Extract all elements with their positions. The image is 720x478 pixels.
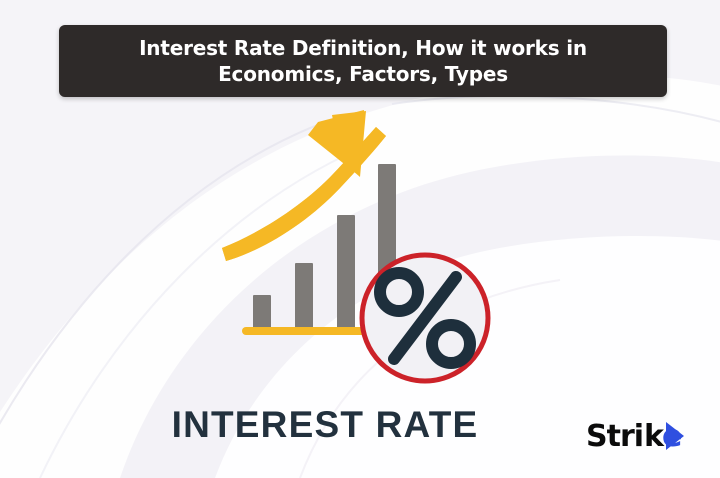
logo-wordmark-dark: Stri [586,419,643,454]
page-title: Interest Rate Definition, How it works i… [139,35,587,88]
percent-badge [362,255,488,381]
growth-arrow-icon [222,110,386,261]
poster-canvas: Interest Rate Definition, How it works i… [0,0,720,478]
chart-baseline [242,327,378,335]
logo-wordmark-e: e [662,419,681,454]
bar-3 [337,215,355,328]
bar-2 [295,263,313,328]
strike-logo[interactable]: Stri k e [586,414,706,458]
headline-plaque: Interest Rate Definition, How it works i… [59,25,667,97]
interest-rate-illustration [200,105,520,395]
bar-1 [253,295,271,328]
